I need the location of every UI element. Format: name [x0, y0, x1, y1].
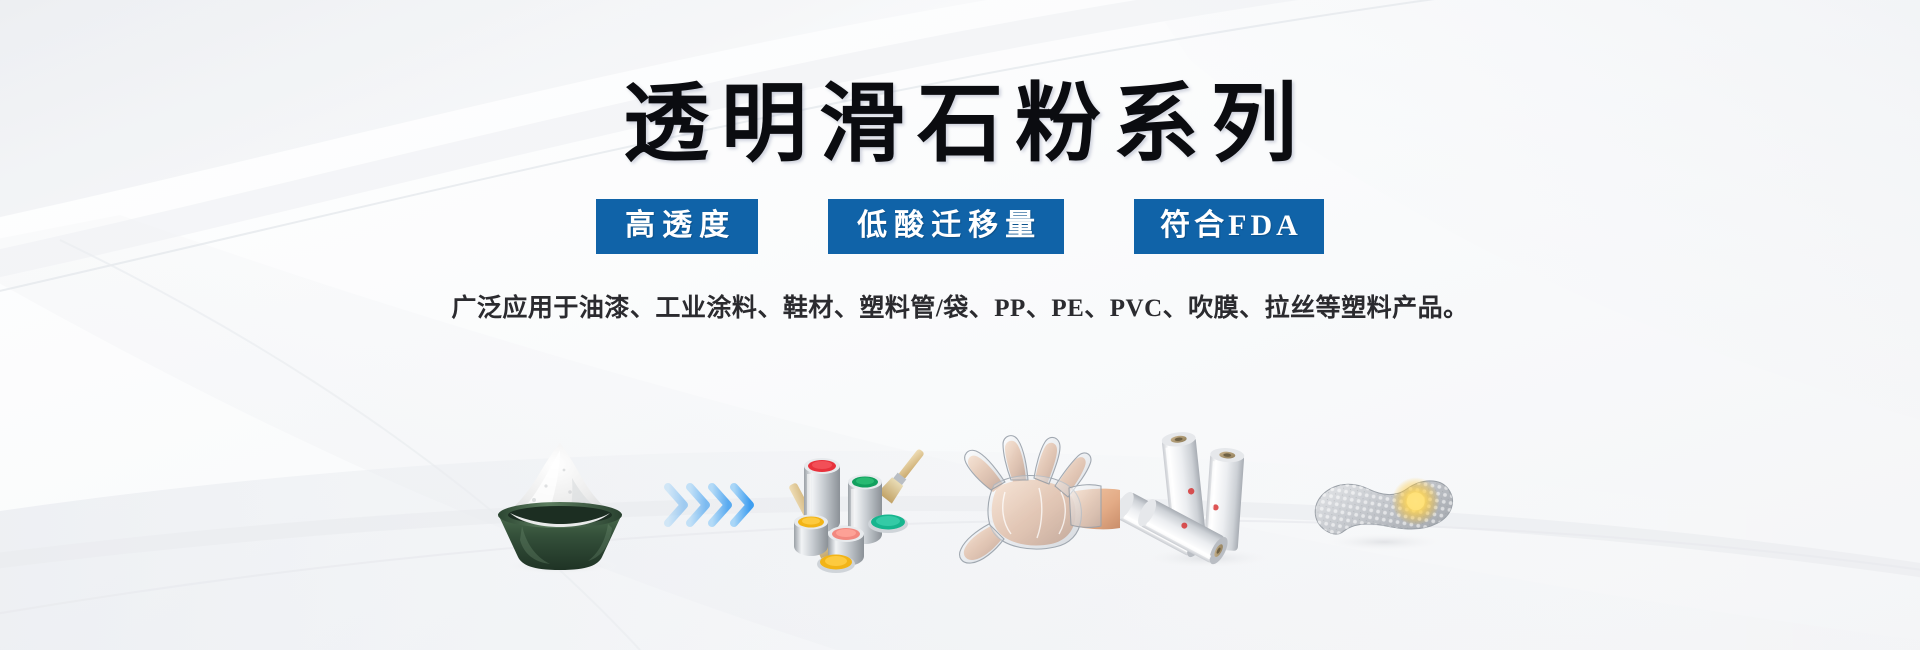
feature-badge-high-transparency: 高透度 [596, 199, 758, 255]
product-paint-cans [770, 430, 945, 580]
product-banner: 透明滑石粉系列 高透度 低酸迁移量 符合FDA 广泛应用于油漆、工业涂料、鞋材、… [0, 0, 1920, 650]
application-description: 广泛应用于油漆、工业涂料、鞋材、塑料管/袋、PP、PE、PVC、吹膜、拉丝等塑料… [451, 288, 1468, 324]
product-talc-powder-bowl [460, 430, 660, 580]
shoe-sole-icon [1300, 430, 1460, 580]
product-application-strip [460, 425, 1460, 585]
product-plastic-film-rolls [1120, 430, 1300, 580]
paint-cans-icon [770, 430, 945, 580]
plastic-film-rolls-icon [1120, 430, 1300, 580]
feature-badge-list: 高透度 低酸迁移量 符合FDA [596, 199, 1324, 255]
talc-powder-bowl-icon [460, 430, 660, 580]
feature-badge-low-acid-migration: 低酸迁移量 [828, 199, 1064, 255]
flow-arrows [660, 430, 770, 580]
page-title: 透明滑石粉系列 [611, 78, 1309, 171]
feature-badge-fda-compliant: 符合FDA [1134, 199, 1324, 255]
gloved-hand-icon [945, 430, 1120, 580]
product-shoe-sole [1300, 430, 1460, 580]
chevron-right-icon [660, 475, 770, 535]
product-gloved-hand [945, 430, 1120, 580]
